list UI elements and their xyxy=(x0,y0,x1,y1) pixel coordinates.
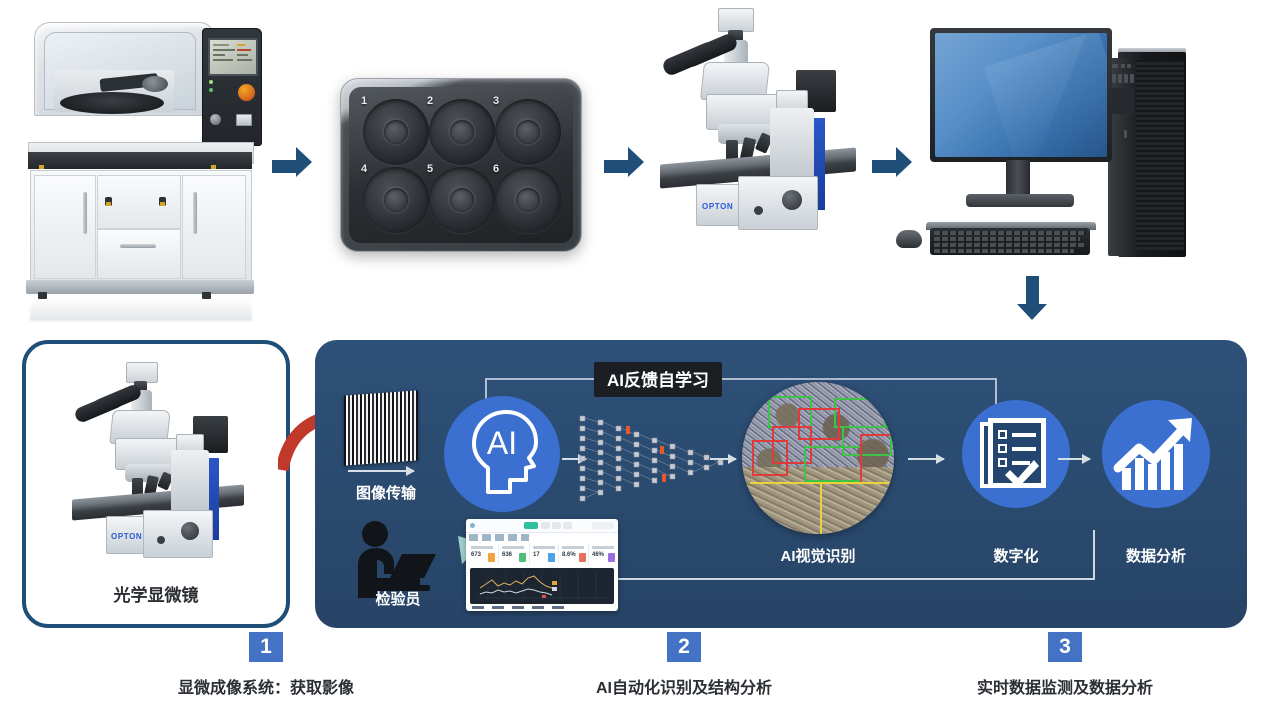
dashboard-kpi-5: 46% xyxy=(589,544,617,565)
machine-led-green-2 xyxy=(209,88,213,92)
tower-front-panel xyxy=(1108,58,1136,256)
grinding-polishing-machine xyxy=(14,18,254,288)
dashboard-kpi-2: 636 xyxy=(499,544,530,565)
step-2: 2 AI自动化识别及结构分析 xyxy=(470,632,898,698)
dashboard-user-chip[interactable] xyxy=(592,522,614,529)
monitor-screen xyxy=(935,33,1107,157)
microscope-base xyxy=(738,176,818,230)
inspector-label: 检验员 xyxy=(344,588,452,609)
neural-network-icon xyxy=(578,412,736,508)
image-transfer-label: 图像传输 xyxy=(330,482,442,503)
step-2-number: 2 xyxy=(667,632,701,662)
microscope-brand-label: OPTON xyxy=(111,532,142,541)
microscope-focus-knob[interactable] xyxy=(181,522,199,540)
step-3-caption: 实时数据监测及数据分析 xyxy=(895,674,1235,698)
ai-vision-label: AI视觉识别 xyxy=(742,545,894,566)
kpi-value-4: 8.6% xyxy=(562,552,576,558)
computer-mouse[interactable] xyxy=(896,230,922,248)
inspector-person-icon xyxy=(344,520,452,598)
microscope-camera xyxy=(126,362,158,383)
machine-platter xyxy=(60,92,164,114)
computer-keyboard[interactable] xyxy=(930,228,1090,255)
ai-brain-icon: AI xyxy=(444,396,560,512)
microscope-camera xyxy=(718,8,754,32)
arrow-vision-to-digitize xyxy=(908,458,944,460)
kpi-value-3: 17 xyxy=(533,552,540,558)
image-data-grid-icon xyxy=(344,390,418,465)
microscope-focus-knob[interactable] xyxy=(782,190,802,210)
emergency-stop-button[interactable] xyxy=(236,82,257,103)
digitization-label: 数字化 xyxy=(958,545,1074,566)
step-3-number: 3 xyxy=(1048,632,1082,662)
detection-box-green-2 xyxy=(834,398,886,428)
dashboard-action-4[interactable] xyxy=(563,522,572,529)
machine-foot-left xyxy=(38,292,47,299)
microscope-small-knob[interactable] xyxy=(754,206,763,215)
cabinet-door-left[interactable] xyxy=(34,175,96,279)
step-1: 1 显微成像系统：获取影像 xyxy=(52,632,480,698)
tray-well-number-1: 1 xyxy=(361,95,367,107)
step-1-caption: 显微成像系统：获取影像 xyxy=(52,674,480,698)
digitization-checklist-icon xyxy=(958,396,1074,512)
machine-base xyxy=(26,280,254,294)
cabinet-drawer[interactable] xyxy=(97,229,181,279)
tray-well-number-4: 4 xyxy=(361,163,367,175)
tray-well-3 xyxy=(495,99,561,165)
equipment-row: 1 2 3 4 5 6 OPTON xyxy=(0,0,1269,320)
tray-well-2 xyxy=(429,99,495,165)
machine-led-green xyxy=(209,80,213,84)
cabinet-door-right[interactable] xyxy=(182,175,246,279)
feedback-return-vertical xyxy=(1093,530,1095,580)
microscope-brand-label: OPTON xyxy=(702,202,733,211)
dashboard-action-2[interactable] xyxy=(541,522,550,529)
sample-holder-tray: 1 2 3 4 5 6 xyxy=(340,78,582,252)
microscope-base xyxy=(143,510,213,558)
dashboard-kpi-3: 17 xyxy=(530,544,559,565)
feedback-line-top xyxy=(485,378,997,380)
tray-well-4 xyxy=(363,167,429,233)
data-analysis-label: 数据分析 xyxy=(1098,545,1214,566)
tray-well-number-3: 3 xyxy=(493,95,499,107)
step-3: 3 实时数据监测及数据分析 xyxy=(895,632,1235,698)
machine-lock-top-right xyxy=(210,160,217,169)
tray-inner-surface: 1 2 3 4 5 6 xyxy=(349,87,573,243)
cabinet-lock-right xyxy=(159,197,166,206)
detection-box-red-4 xyxy=(860,434,894,484)
dashboard-line-chart xyxy=(470,568,614,604)
analytics-dashboard[interactable]: 673 636 17 8.6% 46% xyxy=(466,519,618,611)
kpi-value-1: 673 xyxy=(471,552,481,558)
monitor-stand-base xyxy=(966,194,1074,207)
machine-arm-hub xyxy=(142,76,168,92)
optical-microscope: OPTON xyxy=(648,8,878,258)
kpi-value-5: 46% xyxy=(592,552,604,558)
arrow-image-to-ai xyxy=(348,470,414,472)
arrow-digitize-to-analysis xyxy=(1058,458,1090,460)
machine-knob[interactable] xyxy=(210,114,221,125)
tray-well-5 xyxy=(429,167,495,233)
machine-lock-top-left xyxy=(38,160,45,169)
machine-trim-band xyxy=(28,152,252,169)
step-1-number: 1 xyxy=(249,632,283,662)
machine-screen xyxy=(208,38,258,76)
arrow-network-to-vision xyxy=(710,458,736,460)
dashboard-header xyxy=(466,519,618,533)
microscope-small-knob[interactable] xyxy=(157,536,165,544)
tower-mesh-panel xyxy=(1132,60,1184,250)
scale-line-vertical xyxy=(820,482,822,534)
dashboard-kpi-4: 8.6% xyxy=(559,544,589,565)
machine-reflection xyxy=(30,299,252,321)
tray-well-number-5: 5 xyxy=(427,163,433,175)
dashboard-logo-icon xyxy=(470,523,475,528)
machine-label-slot xyxy=(236,114,252,126)
scale-line-horizontal xyxy=(750,482,894,484)
machine-cabinet xyxy=(30,170,252,284)
monitor-stand-neck xyxy=(1006,160,1030,196)
machine-foot-right xyxy=(202,292,211,299)
optical-microscope-label: 光学显微镜 xyxy=(26,581,286,606)
dashboard-chart-legend xyxy=(472,606,572,609)
feedback-self-learning-tag: AI反馈自学习 xyxy=(594,362,722,397)
dashboard-action-primary[interactable] xyxy=(524,522,538,529)
optical-microscope-card: OPTON 光学显微镜 xyxy=(22,340,290,628)
computer-monitor xyxy=(930,28,1112,162)
dashboard-kpi-1: 673 xyxy=(468,544,499,565)
tray-well-number-6: 6 xyxy=(493,163,499,175)
dashboard-action-3[interactable] xyxy=(552,522,561,529)
kpi-value-2: 636 xyxy=(502,552,512,558)
optical-microscope-stage1: OPTON xyxy=(64,362,264,577)
tray-well-1 xyxy=(363,99,429,165)
cabinet-lock-left xyxy=(105,197,112,206)
data-analysis-growth-icon xyxy=(1098,396,1214,512)
tray-well-number-2: 2 xyxy=(427,95,433,107)
detection-box-red-3 xyxy=(752,440,788,476)
ai-head-text: AI xyxy=(487,425,517,461)
ai-vision-microscopy-image xyxy=(742,382,894,534)
step-2-caption: AI自动化识别及结构分析 xyxy=(470,674,898,698)
tray-well-6 xyxy=(495,167,561,233)
dashboard-tabs[interactable] xyxy=(469,534,529,541)
